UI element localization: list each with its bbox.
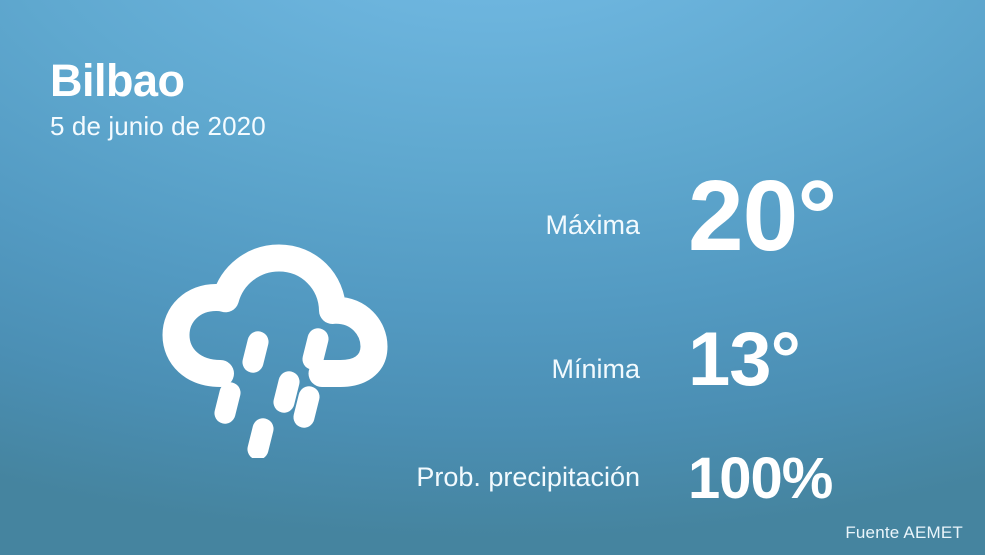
forecast-data: Máxima 20° Mínima 13° Prob. precipitació… bbox=[388, 160, 948, 500]
rain-cloud-icon bbox=[162, 243, 388, 458]
source-attribution: Fuente AEMET bbox=[845, 523, 963, 543]
weather-card: Bilbao 5 de junio de 2020 Máxima 20° Mín… bbox=[0, 0, 985, 555]
precipitacion-value: 100% bbox=[688, 450, 832, 508]
precipitacion-label: Prob. precipitación bbox=[416, 464, 640, 491]
minima-value: 13° bbox=[688, 322, 800, 398]
header: Bilbao 5 de junio de 2020 bbox=[50, 58, 266, 140]
maxima-value: 20° bbox=[688, 166, 836, 266]
raindrops bbox=[212, 326, 331, 458]
minima-label: Mínima bbox=[551, 356, 640, 383]
row-minima: Mínima 13° bbox=[388, 310, 948, 410]
forecast-date: 5 de junio de 2020 bbox=[50, 112, 266, 141]
maxima-label: Máxima bbox=[545, 212, 640, 239]
row-precipitacion: Prob. precipitación 100% bbox=[388, 432, 948, 512]
rain-cloud-glyph bbox=[162, 243, 388, 458]
page-title: Bilbao bbox=[50, 58, 266, 104]
row-maxima: Máxima 20° bbox=[388, 160, 948, 280]
